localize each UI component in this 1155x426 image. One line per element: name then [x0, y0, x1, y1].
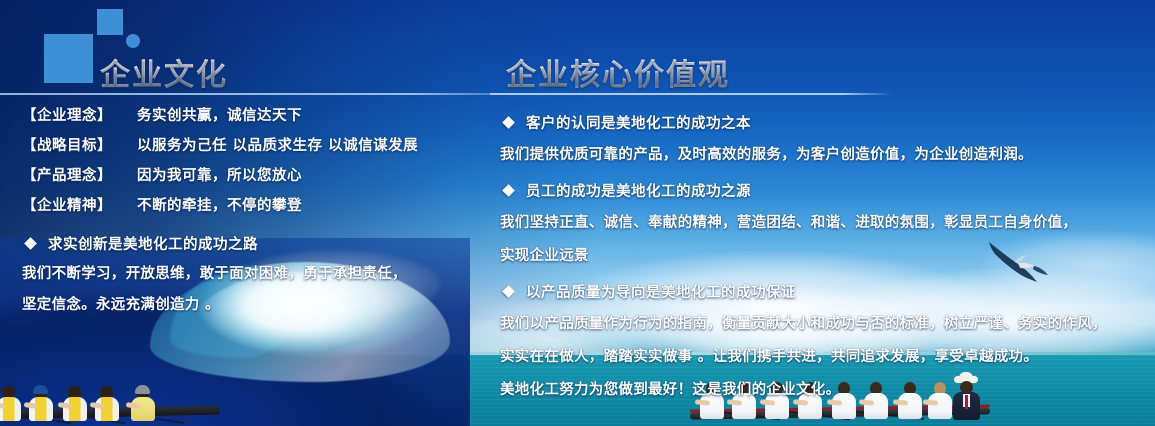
rower	[62, 386, 88, 420]
decorative-square-large	[44, 34, 93, 83]
divider-right	[490, 93, 892, 95]
culture-row: 【战略目标】 以服务为己任 以品质求生存 以诚信谋发展	[22, 134, 492, 164]
bullet-heading-text: 以产品质量为导向是美地化工的成功保证	[526, 281, 796, 302]
rower-arm	[24, 402, 39, 409]
left-content-column: 【企业理念】 务实创共赢，诚信达天下 【战略目标】 以服务为己任 以品质求生存 …	[22, 104, 492, 321]
culture-row-key: 【战略目标】	[22, 134, 137, 155]
rower-jersey	[29, 397, 53, 421]
decorative-square-small	[97, 9, 123, 35]
culture-row: 【企业理念】 务实创共赢，诚信达天下	[22, 104, 492, 134]
paragraph-line: 美地化工努力为您做到最好！这是我们的企业文化。	[500, 374, 1140, 407]
bullet-heading: 员工的成功是美地化工的成功之源	[500, 174, 1140, 207]
rower-jersey	[0, 397, 21, 421]
culture-row-key: 【企业精神】	[22, 194, 137, 215]
bullet-heading: 以产品质量为导向是美地化工的成功保证	[500, 275, 1140, 308]
paragraph-line: 我们坚持正直、诚信、奉献的精神，营造团结、和谐、进取的氛围，彰显员工自身价值，	[500, 207, 1140, 240]
divider-left	[0, 93, 490, 95]
culture-row-value: 以服务为己任 以品质求生存 以诚信谋发展	[137, 134, 418, 155]
culture-row-value: 不断的牵挂，不停的攀登	[137, 194, 302, 215]
paragraph-line: 我们以产品质量作为行为的指南，衡量贡献大小和成功与否的标准，树立严谨、务实的作风…	[500, 308, 1140, 341]
diamond-bullet-icon	[502, 116, 515, 129]
rowing-crew-left	[0, 368, 240, 426]
rower-arm	[58, 402, 73, 409]
culture-row: 【产品理念】 因为我可靠，所以您放心	[22, 164, 492, 194]
rower-jersey	[95, 397, 119, 421]
culture-row-value: 务实创共赢，诚信达天下	[137, 104, 302, 125]
paragraph-line: 实实在在做人，踏踏实实做事 。让我们携手共进，共同追求发展，享受卓越成功。	[500, 341, 1140, 374]
culture-row-key: 【企业理念】	[22, 104, 137, 125]
paragraph-line: 我们不断学习，开放思维，敢于面对困难，勇于承担责任，	[22, 259, 492, 290]
bullet-heading: 客户的认同是美地化工的成功之本	[500, 106, 1140, 139]
rower	[28, 386, 54, 420]
rower-cap	[33, 385, 48, 394]
bullet-heading-text: 员工的成功是美地化工的成功之源	[526, 180, 751, 201]
paragraph-line: 我们提供优质可靠的产品，及时高效的服务，为客户创造价值，为企业创造利润。	[500, 139, 1140, 172]
diamond-bullet-icon	[502, 184, 515, 197]
page-title-corporate-culture: 企业文化	[100, 50, 228, 94]
corporate-culture-banner: 企业文化 企业核心价值观 【企业理念】 务实创共赢，诚信达天下 【战略目标】 以…	[0, 0, 1155, 426]
right-content-column: 客户的认同是美地化工的成功之本 我们提供优质可靠的产品，及时高效的服务，为客户创…	[500, 104, 1140, 407]
culture-row-value: 因为我可靠，所以您放心	[137, 164, 302, 185]
paragraph-line: 坚定信念。永远充满创造力 。	[22, 290, 492, 321]
bullet-heading-text: 求实创新是美地化工的成功之路	[48, 233, 258, 254]
diamond-bullet-icon	[24, 237, 37, 250]
rower-cap	[135, 385, 150, 394]
decorative-circle	[126, 34, 140, 48]
diamond-bullet-icon	[502, 285, 515, 298]
rower	[0, 386, 22, 420]
paragraph-line: 实现企业远景	[500, 240, 1140, 273]
bullet-heading-text: 客户的认同是美地化工的成功之本	[526, 112, 751, 133]
culture-row: 【企业精神】 不断的牵挂，不停的攀登	[22, 194, 492, 224]
rower-jersey	[131, 397, 155, 421]
page-title-core-values: 企业核心价值观	[506, 50, 730, 94]
rower-coxswain	[130, 386, 156, 420]
bullet-heading: 求实创新是美地化工的成功之路	[22, 228, 492, 259]
culture-row-key: 【产品理念】	[22, 164, 137, 185]
rower-jersey	[63, 397, 87, 421]
rower	[94, 386, 120, 420]
